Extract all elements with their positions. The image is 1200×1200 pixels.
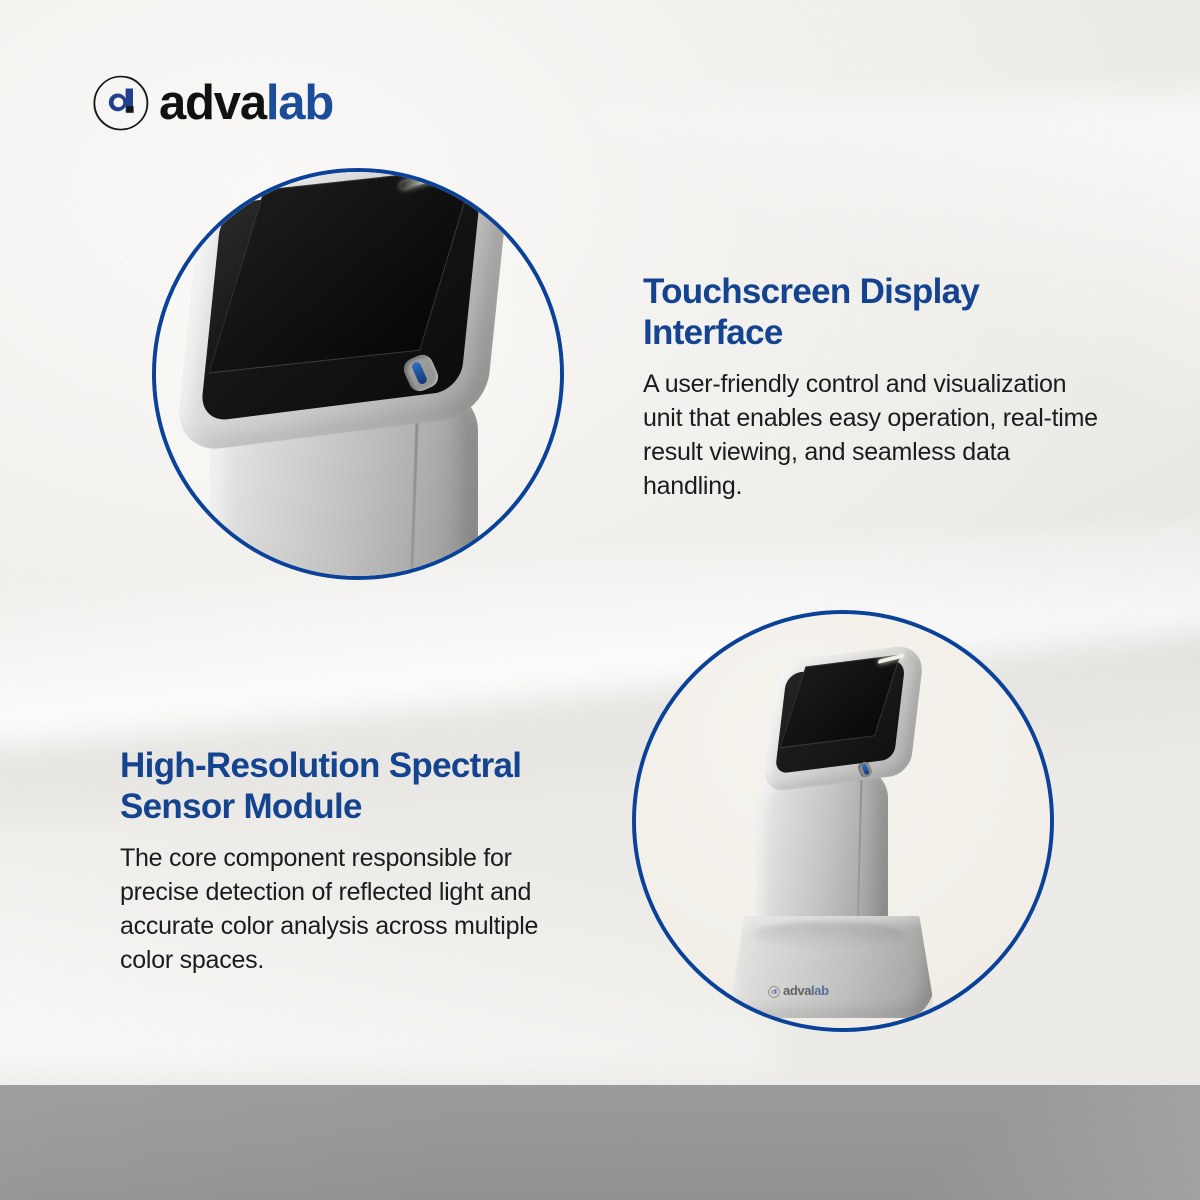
device-full-illustration: advalab — [636, 614, 1050, 1028]
dock-wordmark-lab: lab — [811, 983, 829, 998]
feature-image-circle-touchscreen — [152, 168, 564, 580]
advalab-circle-a-icon — [768, 985, 780, 997]
spectrophotometer-closeup — [152, 168, 564, 580]
brand-wordmark: advalab — [159, 79, 333, 128]
band-sheen — [840, 1085, 1200, 1200]
dock-wordmark-adva: adva — [783, 983, 811, 998]
device-closeup-illustration — [156, 172, 560, 576]
product-feature-infographic: advalab — [0, 0, 1200, 1200]
bottom-color-band — [0, 1085, 1200, 1200]
brand-wordmark-lab: lab — [266, 76, 333, 130]
device-head — [175, 168, 513, 454]
dock-cradle-shadow — [754, 922, 904, 948]
feature-title: Touchscreen Display Interface — [643, 272, 1105, 353]
brand-wordmark-adva: adva — [159, 76, 266, 130]
device-head — [763, 643, 925, 793]
dock-brand-wordmark: advalab — [783, 984, 829, 997]
feature-image-circle-sensor-module: advalab — [632, 610, 1054, 1032]
advalab-circle-a-icon — [92, 74, 150, 132]
feature-description: The core component responsible for preci… — [120, 841, 582, 977]
feature-block-high-resolution-spectral-sensor-module: High-Resolution Spectral Sensor Module T… — [120, 746, 582, 977]
brand-logo[interactable]: advalab — [92, 74, 333, 132]
spectrophotometer-on-dock: advalab — [732, 654, 982, 1014]
feature-description: A user-friendly control and visualizatio… — [643, 367, 1105, 503]
dock-brand-logo: advalab — [768, 984, 829, 997]
feature-block-touchscreen-display-interface: Touchscreen Display Interface A user-fri… — [643, 272, 1105, 503]
feature-title: High-Resolution Spectral Sensor Module — [120, 746, 582, 827]
